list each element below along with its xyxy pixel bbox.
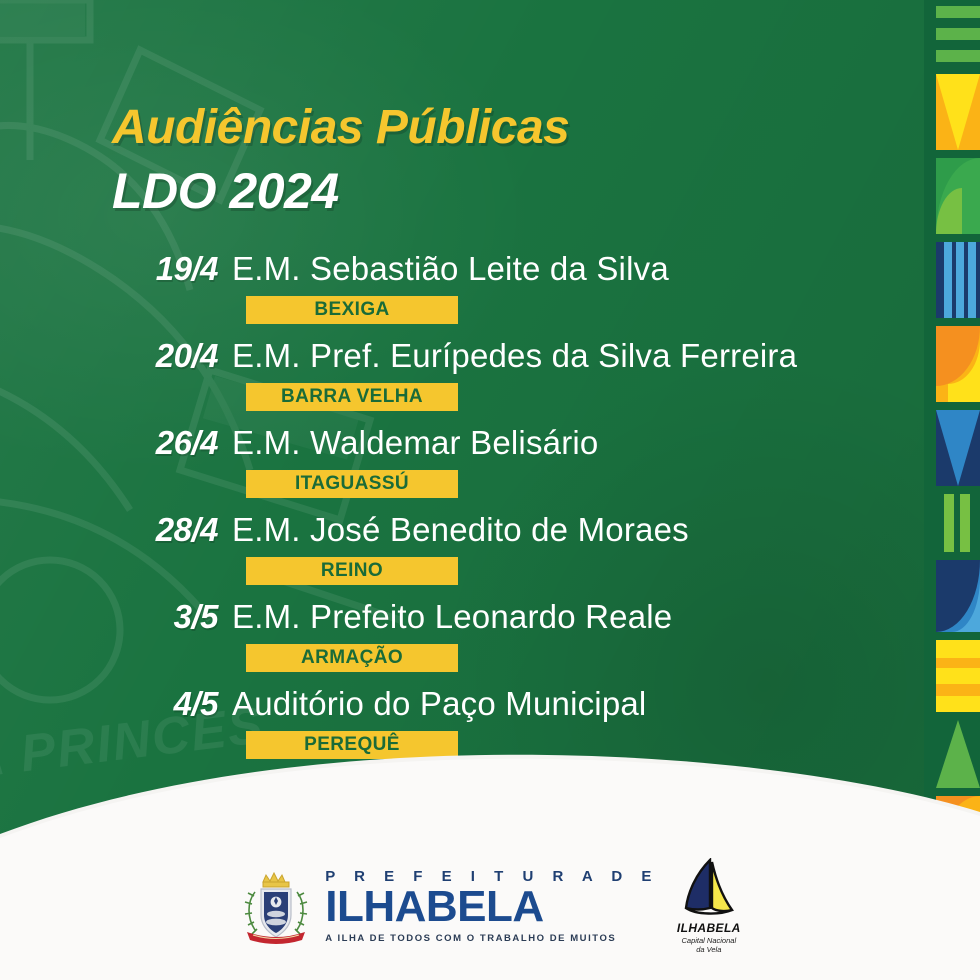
district-badge: ITAGUASSÚ [246, 470, 458, 498]
entry-place: Auditório do Paço Municipal [232, 685, 646, 723]
entry-place: E.M. José Benedito de Moraes [232, 511, 689, 549]
page-title: Audiências Públicas [112, 100, 569, 157]
district-badge: BARRA VELHA [246, 383, 458, 411]
coat-of-arms-icon [239, 866, 313, 946]
sail-sub-line2: da Vela [696, 945, 721, 954]
entry-date: 4/5 [0, 685, 232, 723]
entry-place: E.M. Prefeito Leonardo Reale [232, 598, 672, 636]
poster-canvas: A PRINCES [0, 0, 980, 980]
sail-logo-subtitle: Capital Nacional da Vela [682, 936, 737, 954]
entry-place: E.M. Sebastião Leite da Silva [232, 250, 669, 288]
district-label: ITAGUASSÚ [295, 473, 409, 495]
tagline: A ILHA DE TODOS COM O TRABALHO DE MUITOS [325, 934, 616, 944]
district-label: ARMAÇÃO [301, 647, 403, 669]
district-label: REINO [321, 560, 383, 582]
entry-place: E.M. Pref. Eurípedes da Silva Ferreira [232, 337, 797, 375]
district-label: BEXIGA [314, 299, 389, 321]
entry-place: E.M. Waldemar Belisário [232, 424, 598, 462]
wordmark: P R E F E I T U R A D E ILHABELA A ILHA … [325, 869, 659, 944]
sail-logo-name: ILHABELA [677, 921, 741, 935]
district-badge: ARMAÇÃO [246, 644, 458, 672]
heading-block: Audiências Públicas LDO 2024 [112, 100, 569, 220]
city-name: ILHABELA [325, 885, 543, 929]
district-label: BARRA VELHA [281, 386, 423, 408]
list-item: 28/4 E.M. José Benedito de Moraes REINO [0, 511, 924, 598]
schedule-list: 19/4 E.M. Sebastião Leite da Silva BEXIG… [0, 250, 924, 772]
entry-date: 19/4 [0, 250, 232, 288]
sail-logo: ILHABELA Capital Nacional da Vela [677, 858, 741, 954]
list-item: 3/5 E.M. Prefeito Leonardo Reale ARMAÇÃO [0, 598, 924, 685]
entry-date: 26/4 [0, 424, 232, 462]
sail-icon [680, 858, 738, 920]
entry-date: 28/4 [0, 511, 232, 549]
district-badge: REINO [246, 557, 458, 585]
list-item: 26/4 E.M. Waldemar Belisário ITAGUASSÚ [0, 424, 924, 511]
list-item: 20/4 E.M. Pref. Eurípedes da Silva Ferre… [0, 337, 924, 424]
footer-logo-lockup: P R E F E I T U R A D E ILHABELA A ILHA … [0, 858, 980, 954]
sail-sub-line1: Capital Nacional [682, 936, 737, 945]
list-item: 19/4 E.M. Sebastião Leite da Silva BEXIG… [0, 250, 924, 337]
entry-date: 20/4 [0, 337, 232, 375]
entry-date: 3/5 [0, 598, 232, 636]
decorative-color-strip [924, 0, 980, 870]
district-badge: BEXIGA [246, 296, 458, 324]
page-subtitle: LDO 2024 [112, 163, 569, 221]
